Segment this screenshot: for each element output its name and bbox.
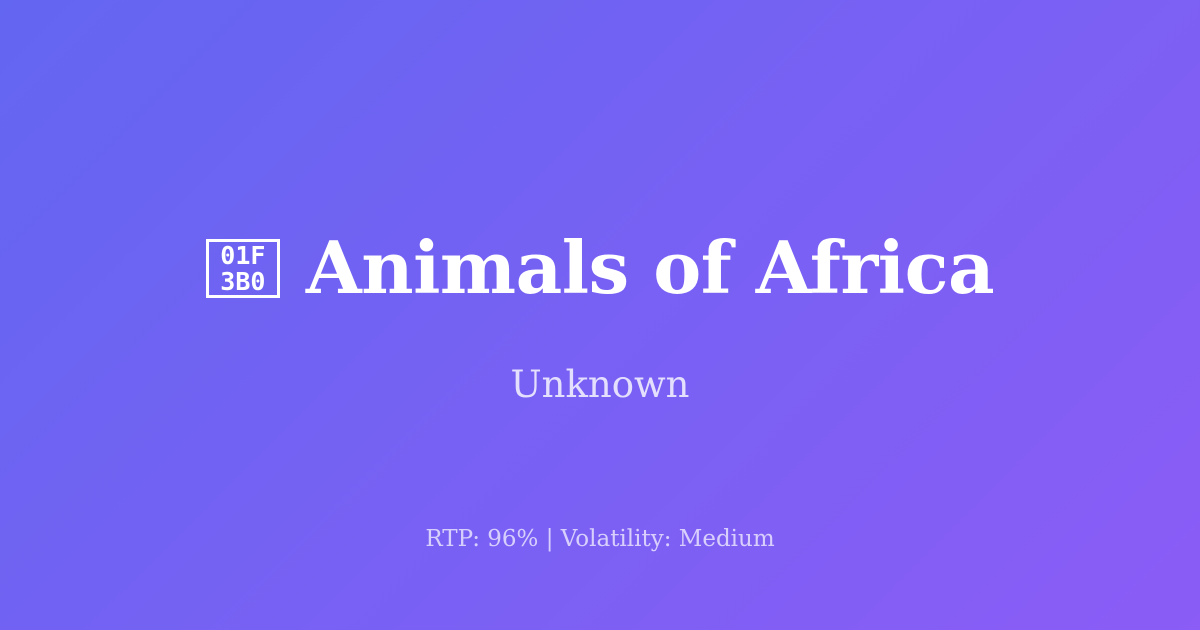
tofu-codepoint-top: 01F bbox=[220, 243, 265, 269]
card-subtitle: Unknown bbox=[0, 366, 1200, 403]
slot-machine-icon: 01F 3B0 bbox=[206, 239, 280, 298]
tofu-codepoint-bottom: 3B0 bbox=[220, 269, 265, 295]
page-title: Animals of Africa bbox=[306, 232, 994, 304]
headline-row: 01F 3B0 Animals of Africa bbox=[0, 232, 1200, 304]
og-share-card: 01F 3B0 Animals of Africa Unknown RTP: 9… bbox=[0, 0, 1200, 630]
card-meta-line: RTP: 96% | Volatility: Medium bbox=[0, 528, 1200, 551]
